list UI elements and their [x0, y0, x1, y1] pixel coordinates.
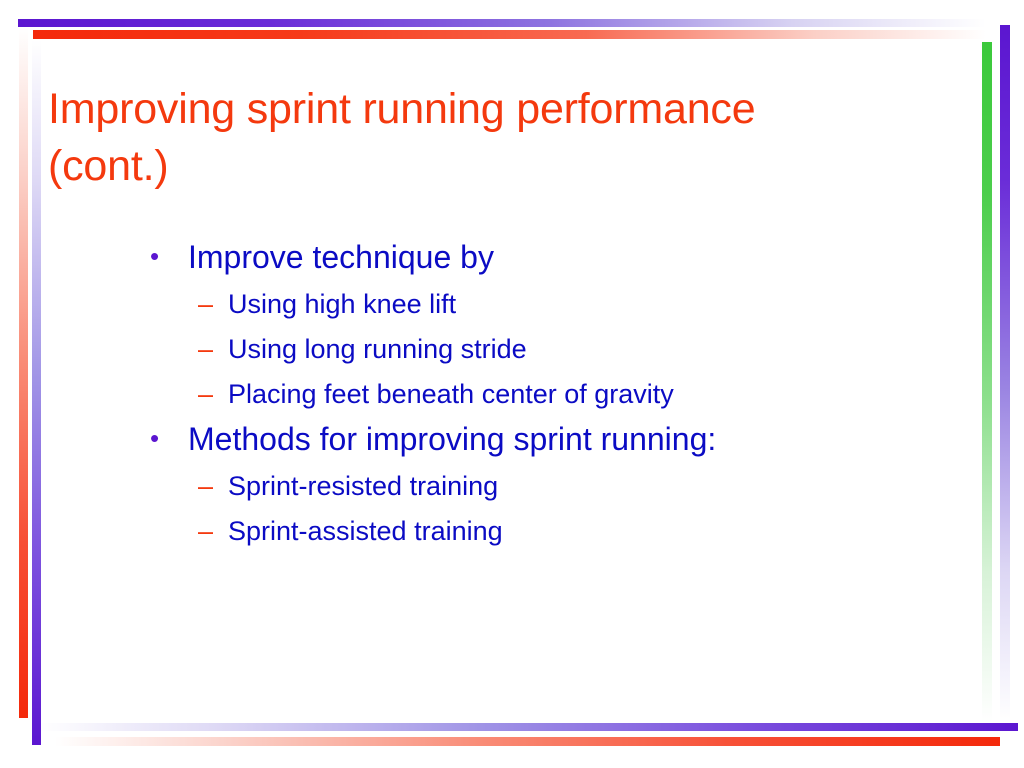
- bullet-text: Sprint-resisted training: [228, 470, 986, 503]
- bullet-text: Improve technique by: [188, 238, 986, 277]
- dash-icon: –: [198, 288, 228, 321]
- dash-icon: –: [198, 333, 228, 366]
- top-red-rule: [33, 30, 986, 39]
- dash-icon: –: [198, 378, 228, 411]
- bullet-level2: – Placing feet beneath center of gravity: [198, 369, 986, 411]
- bullet-level2: – Sprint-resisted training: [198, 461, 986, 503]
- bullet-dot-icon: •: [146, 238, 188, 276]
- bullet-level1: • Improve technique by: [146, 232, 986, 277]
- left-red-rule: [19, 28, 28, 718]
- bullet-level2: – Using high knee lift: [198, 279, 986, 321]
- slide-canvas: Improving sprint running performance (co…: [0, 0, 1024, 768]
- bullet-text: Using long running stride: [228, 333, 986, 366]
- dash-icon: –: [198, 515, 228, 548]
- right-purple-rule: [1000, 25, 1010, 723]
- bullet-level2: – Using long running stride: [198, 324, 986, 366]
- top-purple-rule: [18, 19, 986, 27]
- bullet-text: Sprint-assisted training: [228, 515, 986, 548]
- left-purple-rule: [32, 40, 41, 745]
- bullet-level1: • Methods for improving sprint running:: [146, 414, 986, 459]
- bottom-purple-rule: [40, 723, 1018, 731]
- bullet-text: Methods for improving sprint running:: [188, 420, 986, 459]
- slide-body: • Improve technique by – Using high knee…: [146, 232, 986, 551]
- dash-icon: –: [198, 470, 228, 503]
- bullet-text: Using high knee lift: [228, 288, 986, 321]
- bullet-level2: – Sprint-assisted training: [198, 506, 986, 548]
- bullet-text: Placing feet beneath center of gravity: [228, 378, 986, 411]
- bullet-dot-icon: •: [146, 420, 188, 458]
- bottom-red-rule: [55, 737, 1000, 746]
- slide-title: Improving sprint running performance (co…: [48, 81, 818, 195]
